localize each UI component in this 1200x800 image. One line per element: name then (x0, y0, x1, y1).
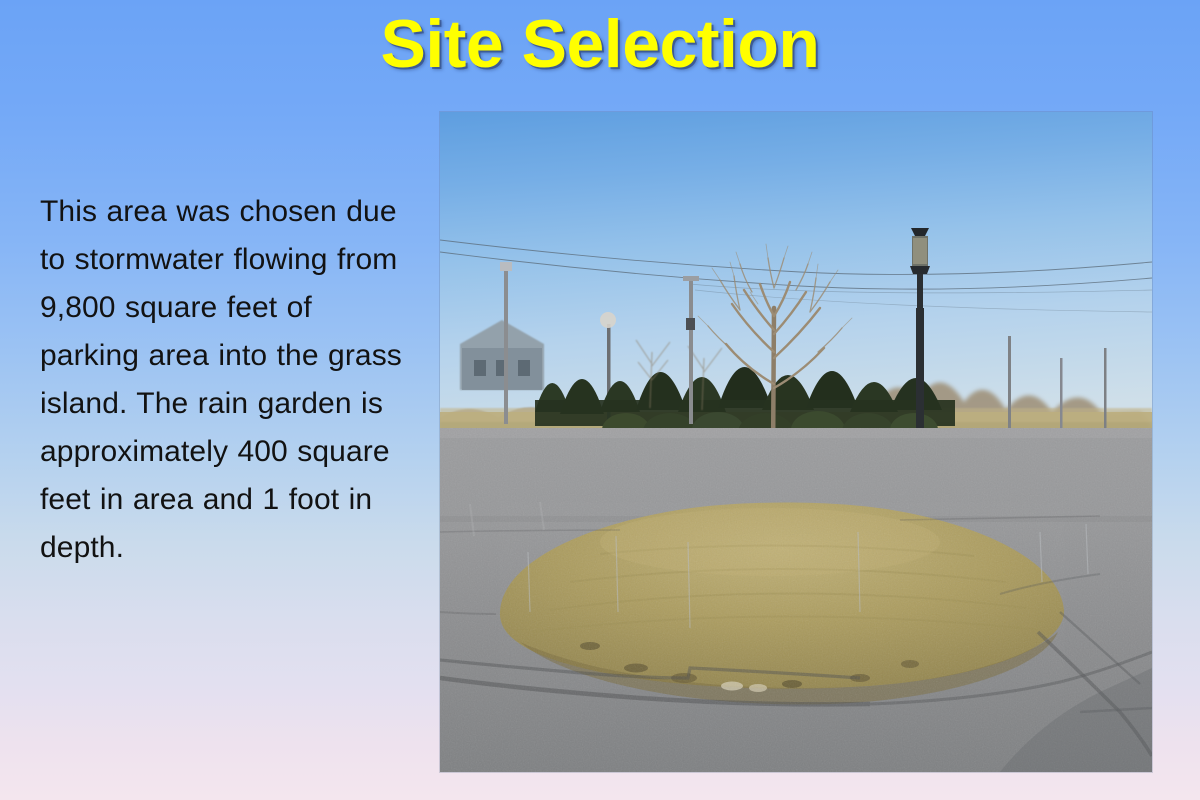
page-title: Site Selection (0, 8, 1200, 81)
slide: Site Selection This area was chosen due … (0, 0, 1200, 800)
site-photograph-image (440, 112, 1152, 772)
site-photograph (440, 112, 1152, 772)
body-paragraph: This area was chosen due to stormwater f… (40, 188, 420, 572)
